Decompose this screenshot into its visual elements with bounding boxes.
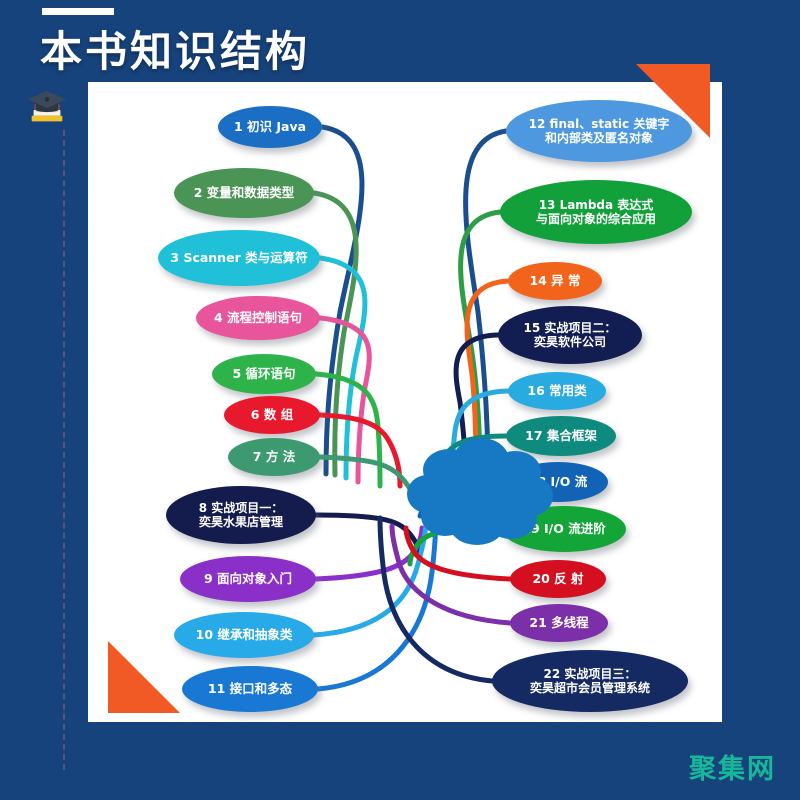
mindmap-node-14[interactable]: 14 异 常	[508, 262, 602, 300]
mindmap-node-10[interactable]: 10 继承和抽象类	[174, 612, 314, 658]
mindmap-node-label: 2 变量和数据类型	[194, 186, 295, 201]
mindmap-node-3[interactable]: 3 Scanner 类与运算符	[158, 230, 320, 286]
corner-triangle-bottom-left	[108, 641, 180, 713]
mindmap-node-label: 1 初识 Java	[234, 120, 306, 135]
mindmap-node-label: 7 方 法	[253, 450, 295, 465]
mindmap-node-label: 20 反 射	[532, 572, 583, 587]
mindmap-node-label: 11 接口和多态	[208, 682, 292, 697]
corner-triangle-top-right	[636, 64, 710, 138]
mindmap-node-21[interactable]: 21 多线程	[510, 604, 608, 642]
mindmap-node-line-1: 22 实战项目三：	[530, 667, 650, 681]
mindmap-node-label: 3 Scanner 类与运算符	[170, 251, 307, 266]
mindmap-node-line-2: 奕昊超市会员管理系统	[530, 681, 650, 695]
mindmap-node-9[interactable]: 9 面向对象入门	[180, 556, 316, 602]
mindmap-node-line-1: 8 实战项目一：	[199, 501, 284, 515]
mindmap-node-label: 14 异 常	[529, 274, 580, 289]
mindmap-node-line-2: 奕昊软件公司	[524, 335, 617, 349]
mindmap-node-4[interactable]: 4 流程控制语句	[196, 296, 320, 340]
mindmap-node-label: 16 常用类	[527, 384, 586, 399]
mindmap-node-label: 6 数 组	[251, 408, 293, 423]
mindmap-node-label: 15 实战项目二：奕昊软件公司	[524, 321, 617, 349]
mindmap-node-label: 22 实战项目三：奕昊超市会员管理系统	[530, 667, 650, 695]
decorative-dashed-line	[63, 130, 65, 770]
mindmap-node-line-2: 奕昊水果店管理	[199, 515, 284, 529]
mindmap-node-label: 8 实战项目一：奕昊水果店管理	[199, 501, 284, 529]
mindmap-node-7[interactable]: 7 方 法	[228, 438, 320, 476]
mindmap-node-2[interactable]: 2 变量和数据类型	[174, 168, 314, 218]
mindmap-node-label: 5 循环语句	[232, 367, 295, 382]
mindmap-node-1[interactable]: 1 初识 Java	[218, 106, 322, 148]
mindmap-node-6[interactable]: 6 数 组	[224, 396, 320, 434]
mindmap-node-line-1: 13 Lambda 表达式	[536, 198, 656, 212]
mindmap-node-11[interactable]: 11 接口和多态	[182, 666, 318, 712]
mindmap-node-label: 13 Lambda 表达式与面向对象的综合应用	[536, 198, 656, 226]
title-underline-bar	[42, 8, 114, 15]
mindmap-node-label: 9 面向对象入门	[204, 572, 292, 587]
mindmap-node-label: 4 流程控制语句	[214, 311, 302, 326]
mindmap-node-5[interactable]: 5 循环语句	[212, 354, 316, 394]
mindmap-node-22[interactable]: 22 实战项目三：奕昊超市会员管理系统	[492, 650, 688, 712]
mindmap-node-label: 21 多线程	[529, 616, 588, 631]
mindmap-node-16[interactable]: 16 常用类	[508, 372, 606, 410]
mindmap-node-line-2: 与面向对象的综合应用	[536, 212, 656, 226]
mindmap-node-8[interactable]: 8 实战项目一：奕昊水果店管理	[166, 486, 316, 544]
mindmap-node-line-1: 15 实战项目二：	[524, 321, 617, 335]
mindmap-node-13[interactable]: 13 Lambda 表达式与面向对象的综合应用	[500, 180, 692, 244]
page-title: 本书知识结构	[40, 18, 310, 79]
mindmap-node-20[interactable]: 20 反 射	[510, 560, 606, 598]
mindmap-node-15[interactable]: 15 实战项目二：奕昊软件公司	[498, 306, 642, 364]
mindmap-card: 极简Java (案例·视频) 1 初识 Java2 变量和数据类型3 Scann…	[88, 82, 722, 722]
graduation-cap-books-icon	[24, 85, 70, 131]
mindmap-node-label: 10 继承和抽象类	[196, 628, 293, 643]
central-node-cloud[interactable]	[407, 434, 555, 546]
watermark: 聚集网	[689, 747, 776, 786]
